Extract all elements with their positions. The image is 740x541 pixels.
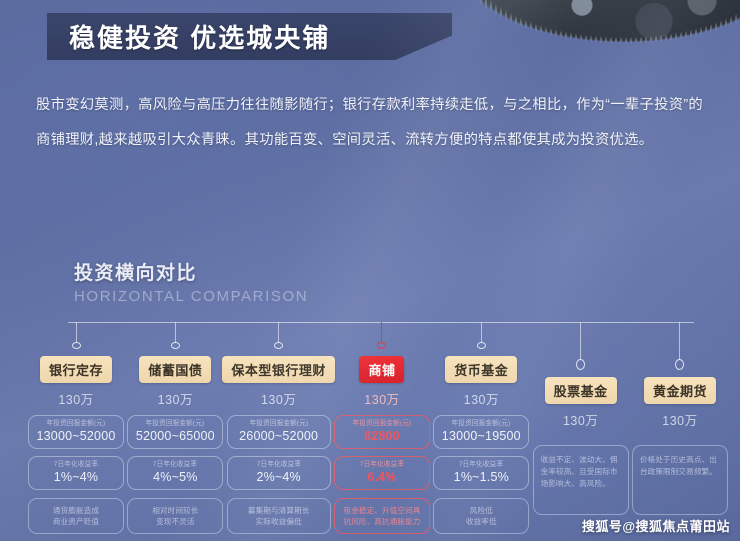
comparison-column: 保本型银行理财130万年投资回报金额(元)26000~520007日年化收益率2… [227,322,331,534]
connector-stem [278,322,279,343]
connector-stem [175,322,176,343]
product-name-chip: 储蓄国债 [139,356,211,383]
connector-stem [381,322,382,343]
annualized-rate-pill: 7日年化收益率1%~4% [28,456,124,490]
comparison-column: 股票基金130万收益不定、波动大、佣金率较高、且受国际市场影响大、高风险。 [533,322,629,534]
annualized-rate-value: 1%~1.5% [438,470,524,485]
comparison-column: 黄金期货130万价格处于历史高点、出台政策限制交易频繁。 [632,322,728,534]
comparison-column: 银行定存130万年投资回报金额(元)13000~520007日年化收益率1%~4… [28,322,124,534]
annualized-rate-pill: 7日年化收益率1%~1.5% [433,456,529,490]
return-amount-pill: 年投资回报金额(元)82800 [334,415,430,449]
comparison-column: 储蓄国债130万年投资回报金额(元)52000~650007日年化收益率4%~5… [127,322,223,534]
poster-page: 稳健投资 优选城央铺 股市变幻莫测，高风险与高压力往往随影随行；银行存款利率持续… [0,0,740,541]
section-title-en: HORIZONTAL COMPARISON [74,288,308,305]
watermark: 搜狐号@搜狐焦点莆田站 [582,516,730,535]
description-note: 价格处于历史高点、出台政策限制交易频繁。 [632,445,728,515]
principal-amount: 130万 [662,410,697,429]
return-amount-value: 52000~65000 [132,429,218,444]
product-name-chip: 商铺 [359,356,404,383]
product-name-chip: 货币基金 [445,356,517,383]
comparison-chart: 银行定存130万年投资回报金额(元)13000~520007日年化收益率1%~4… [28,322,728,534]
connector-node-icon [576,359,585,370]
connector-stem [580,322,581,360]
connector-stem [76,322,77,343]
connector-node-icon [675,359,684,370]
annualized-rate-pill: 7日年化收益率2%~4% [227,456,331,490]
summary-note: 风险低收益率低 [433,498,529,534]
principal-amount: 130万 [261,389,296,408]
description-note: 收益不定、波动大、佣金率较高、且受国际市场影响大、高风险。 [533,445,629,515]
product-name-chip: 保本型银行理财 [222,356,335,383]
annualized-rate-label: 7日年化收益率 [135,460,216,469]
annualized-rate-pill: 7日年化收益率4%~5% [127,456,223,490]
photo-wavy-edge-icon [450,0,740,70]
return-amount-label: 年投资回报金额(元) [441,419,522,428]
principal-amount: 130万 [58,389,93,408]
intro-paragraph: 股市变幻莫测，高风险与高压力往往随影随行；银行存款利率持续走低，与之相比，作为“… [36,88,714,158]
product-name-chip: 黄金期货 [644,377,716,404]
connector-node-icon [377,342,386,349]
annualized-rate-value: 2%~4% [232,470,326,485]
connector-stem [481,322,482,343]
comparison-column: 商铺130万年投资回报金额(元)828007日年化收益率6.4%租金稳定、升值空… [334,322,430,534]
return-amount-value: 82800 [339,429,425,444]
return-amount-label: 年投资回报金额(元) [135,419,216,428]
summary-note: 通货膨胀造成商业资产贬值 [28,498,124,534]
connector-node-icon [274,342,283,349]
return-amount-label: 年投资回报金额(元) [342,419,423,428]
return-amount-value: 13000~52000 [33,429,119,444]
connector-node-icon [477,342,486,349]
annualized-rate-value: 4%~5% [132,470,218,485]
summary-note: 租金稳定、升值空间具抗风险、高抗通胀能力 [334,498,430,534]
annualized-rate-value: 1%~4% [33,470,119,485]
principal-amount: 130万 [464,389,499,408]
annualized-rate-pill: 7日年化收益率6.4% [334,456,430,490]
annualized-rate-value: 6.4% [339,470,425,485]
summary-note: 募集期与清算期长实际收益偏低 [227,498,331,534]
return-amount-value: 13000~19500 [438,429,524,444]
principal-amount: 130万 [364,389,399,408]
connector-stem [679,322,680,360]
return-amount-value: 26000~52000 [232,429,326,444]
annualized-rate-label: 7日年化收益率 [36,460,117,469]
return-amount-pill: 年投资回报金额(元)13000~52000 [28,415,124,449]
connector-node-icon [72,342,81,349]
section-heading: 投资横向对比 HORIZONTAL COMPARISON [74,258,308,305]
annualized-rate-label: 7日年化收益率 [342,460,423,469]
product-name-chip: 股票基金 [545,377,617,404]
principal-amount: 130万 [158,389,193,408]
product-name-chip: 银行定存 [40,356,112,383]
summary-note: 相对时间较长变现不灵活 [127,498,223,534]
page-title: 稳健投资 优选城央铺 [69,18,330,55]
header-banner: 稳健投资 优选城央铺 [47,13,452,60]
return-amount-pill: 年投资回报金额(元)26000~52000 [227,415,331,449]
return-amount-label: 年投资回报金额(元) [36,419,117,428]
return-amount-pill: 年投资回报金额(元)52000~65000 [127,415,223,449]
return-amount-pill: 年投资回报金额(元)13000~19500 [433,415,529,449]
comparison-columns: 银行定存130万年投资回报金额(元)13000~520007日年化收益率1%~4… [28,322,728,534]
annualized-rate-label: 7日年化收益率 [441,460,522,469]
connector-node-icon [171,342,180,349]
comparison-column: 货币基金130万年投资回报金额(元)13000~195007日年化收益率1%~1… [433,322,529,534]
annualized-rate-label: 7日年化收益率 [234,460,322,469]
return-amount-label: 年投资回报金额(元) [234,419,322,428]
principal-amount: 130万 [563,410,598,429]
section-title-cn: 投资横向对比 [74,258,308,285]
